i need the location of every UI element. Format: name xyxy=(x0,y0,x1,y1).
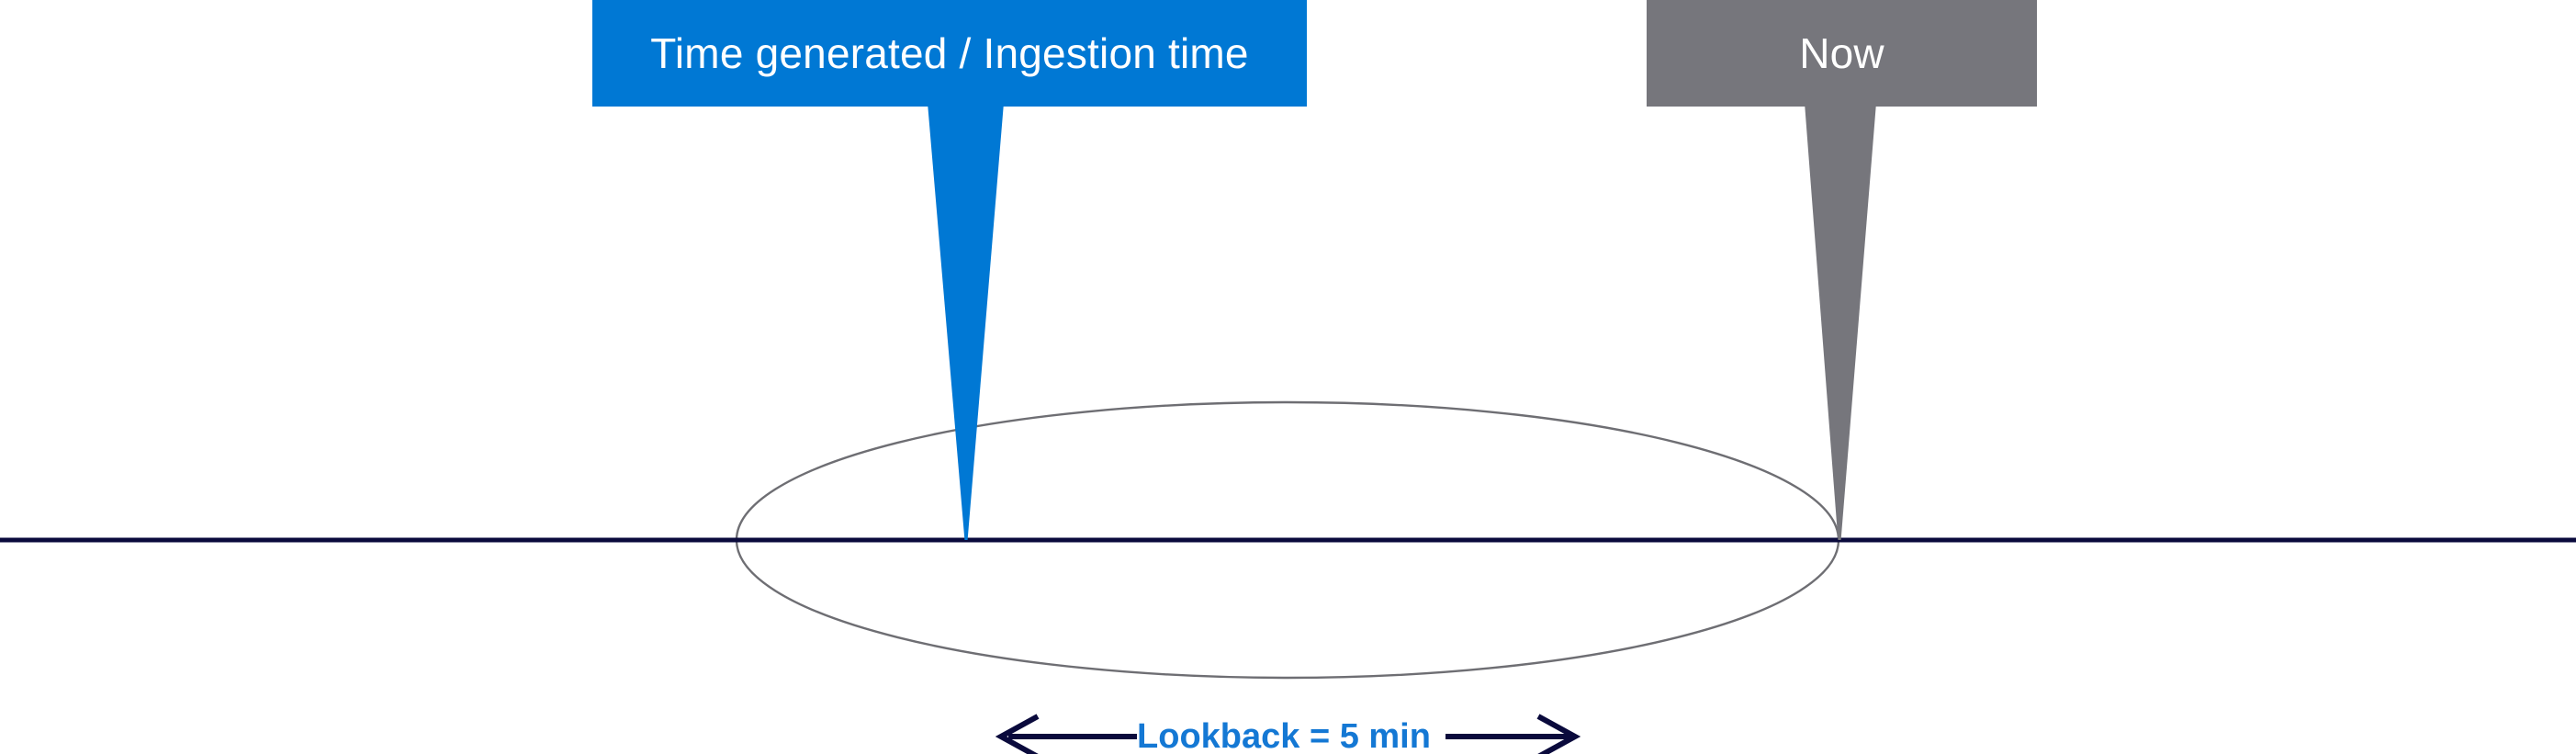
now-pointer-icon xyxy=(1805,103,1876,540)
timeline-diagram-svg xyxy=(0,0,2576,754)
lookback-measure-label: Lookback = 5 min xyxy=(1122,716,1445,754)
now-callout-label: Now xyxy=(1647,0,2037,107)
time-generated-pointer-icon xyxy=(928,103,1004,540)
diagram-canvas: Time generated / Ingestion time Now Look… xyxy=(0,0,2576,754)
timeline-axis xyxy=(0,538,2576,543)
time-generated-callout-label: Time generated / Ingestion time xyxy=(592,0,1307,107)
